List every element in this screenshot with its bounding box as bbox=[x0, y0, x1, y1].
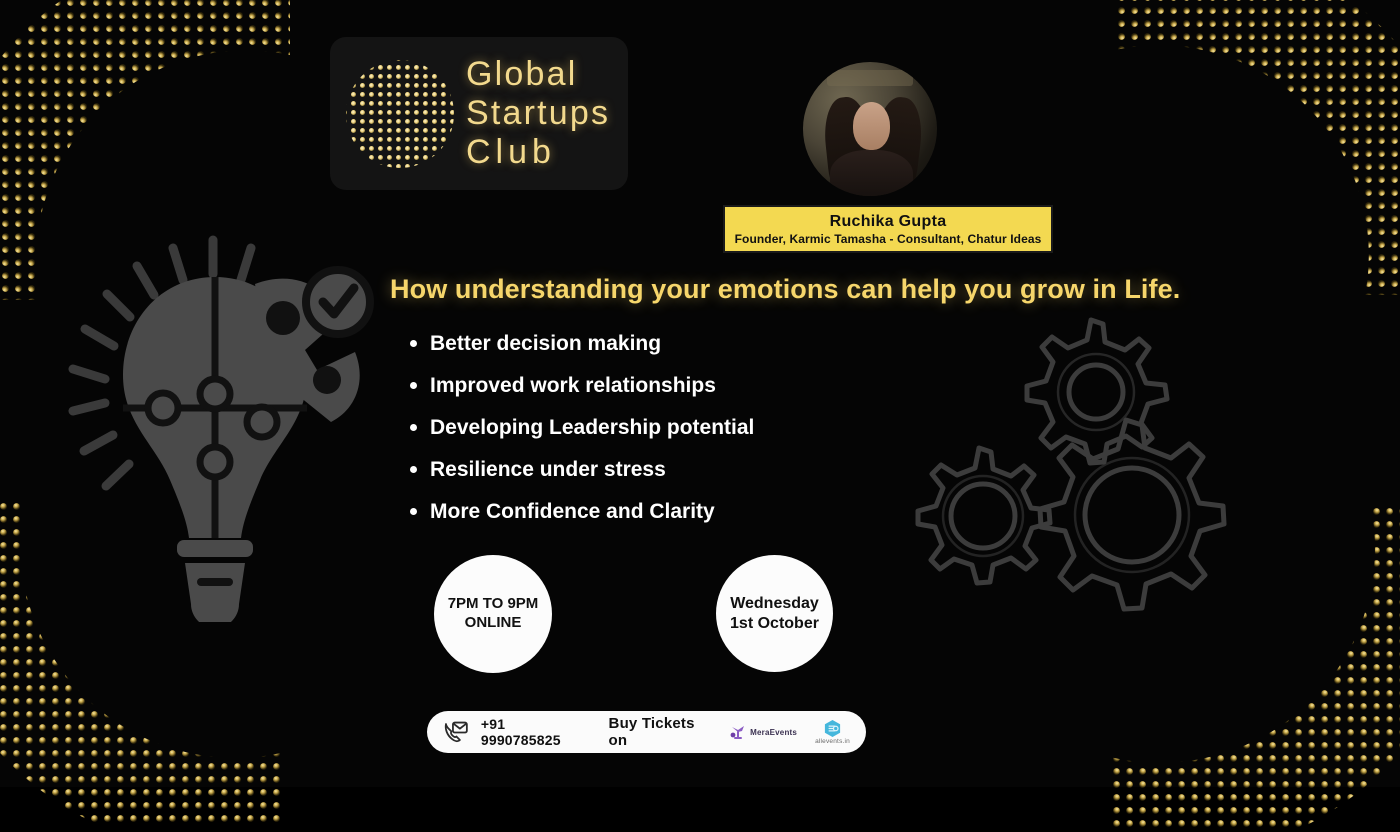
contact-phone: +91 9990785825 bbox=[481, 716, 589, 748]
dotted-sphere-icon bbox=[340, 54, 460, 174]
list-item: Better decision making bbox=[410, 333, 754, 354]
bullet-dot-icon bbox=[410, 508, 417, 515]
bullet-dot-icon bbox=[410, 466, 417, 473]
halftone-arc-top-right bbox=[1115, 0, 1400, 295]
vendor-meraevents-label: MeraEvents bbox=[750, 728, 797, 737]
list-item-label: Better decision making bbox=[430, 333, 661, 354]
phone-envelope-icon bbox=[443, 720, 469, 744]
time-badge: 7PM TO 9PM ONLINE bbox=[434, 555, 552, 673]
puzzle-lightbulb-icon bbox=[55, 222, 385, 627]
logo-line-global: Global bbox=[466, 55, 610, 94]
date-badge: Wednesday 1st October bbox=[716, 555, 833, 672]
list-item: Developing Leadership potential bbox=[410, 417, 754, 438]
gears-icon bbox=[905, 300, 1245, 635]
speaker-name: Ruchika Gupta bbox=[830, 213, 947, 231]
list-item-label: Improved work relationships bbox=[430, 375, 716, 396]
allevents-hexagon-icon bbox=[823, 719, 842, 738]
bullet-dot-icon bbox=[410, 424, 417, 431]
list-item-label: Developing Leadership potential bbox=[430, 417, 754, 438]
logo-line-startups: Startups bbox=[466, 94, 610, 133]
buy-tickets-label: Buy Tickets on bbox=[609, 715, 718, 749]
logo-line-club: Club bbox=[466, 133, 610, 172]
time-badge-line1: 7PM TO 9PM bbox=[448, 595, 539, 614]
list-item-label: Resilience under stress bbox=[430, 459, 666, 480]
date-badge-line1: Wednesday bbox=[730, 594, 819, 614]
vendor-allevents-label: allevents.in bbox=[815, 738, 850, 745]
speaker-role: Founder, Karmic Tamasha - Consultant, Ch… bbox=[735, 232, 1042, 246]
time-badge-line2: ONLINE bbox=[465, 614, 522, 633]
vendor-meraevents[interactable]: MeraEvents bbox=[729, 723, 797, 741]
list-item: More Confidence and Clarity bbox=[410, 501, 754, 522]
vendor-allevents[interactable]: allevents.in bbox=[815, 719, 850, 745]
list-item-label: More Confidence and Clarity bbox=[430, 501, 715, 522]
bullet-dot-icon bbox=[410, 382, 417, 389]
meraevents-icon bbox=[729, 723, 747, 741]
speaker-name-banner: Ruchika Gupta Founder, Karmic Tamasha - … bbox=[723, 205, 1053, 253]
brand-logo: Global Startups Club bbox=[330, 37, 628, 190]
date-badge-line2: 1st October bbox=[730, 614, 819, 634]
list-item: Resilience under stress bbox=[410, 459, 754, 480]
contact-bar: +91 9990785825 Buy Tickets on MeraEvents… bbox=[427, 711, 866, 753]
speaker-avatar bbox=[803, 62, 937, 196]
list-item: Improved work relationships bbox=[410, 375, 754, 396]
benefits-list: Better decision making Improved work rel… bbox=[410, 333, 754, 543]
bullet-dot-icon bbox=[410, 340, 417, 347]
page-title: How understanding your emotions can help… bbox=[390, 274, 1250, 305]
